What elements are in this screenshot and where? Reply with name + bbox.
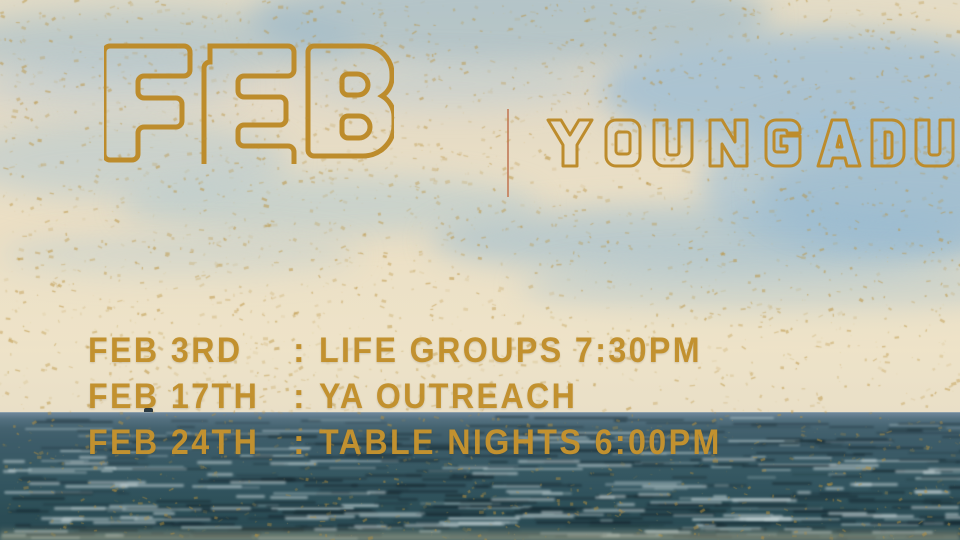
event-row: FEB 3RD : LIFE GROUPS 7:30PM [88,331,757,377]
event-title: LIFE GROUPS 7:30PM [319,331,702,371]
subtitle-young-adults [544,116,960,170]
event-row: FEB 17TH : YA OUTREACH [88,377,757,423]
shore-foam-band [0,526,960,540]
event-date: FEB 3RD [88,331,277,371]
event-date: FEB 24TH [88,423,277,463]
poster-header [104,38,394,164]
event-title: TABLE NIGHTS 6:00PM [319,423,722,463]
event-separator: : [293,423,319,463]
event-list: FEB 3RD : LIFE GROUPS 7:30PM FEB 17TH : … [88,331,757,469]
month-title [104,38,394,164]
event-title: YA OUTREACH [319,377,577,417]
event-poster: YOUNG ADULTS FEB FEB 3RD : LIFE GROUPS 7… [0,0,960,540]
event-separator: : [293,377,319,417]
header-divider [507,109,509,197]
event-row: FEB 24TH : TABLE NIGHTS 6:00PM [88,423,757,469]
event-date: FEB 17TH [88,377,277,417]
event-separator: : [293,331,319,371]
